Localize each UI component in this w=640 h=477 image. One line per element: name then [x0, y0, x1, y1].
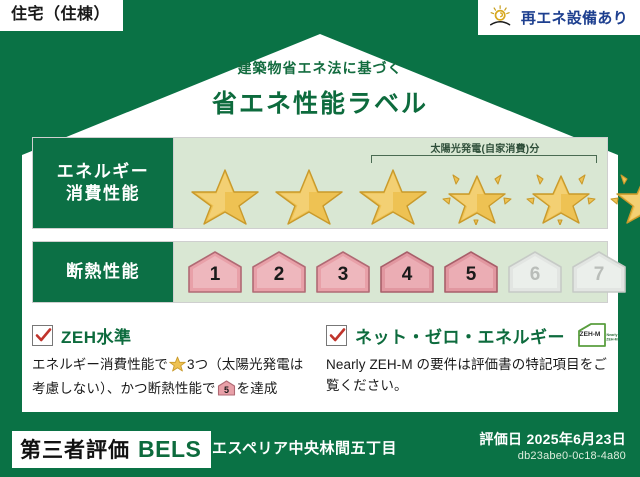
- energy-performance-label-key: エネルギー 消費性能: [32, 137, 174, 229]
- solar-star-icon: [608, 163, 640, 225]
- label-title-block: 建築物省エネ法に基づく 省エネ性能ラベル: [0, 58, 640, 120]
- insulation-grade-value: 6: [506, 265, 564, 284]
- claims-section: ZEH水準 エネルギー消費性能で3つ（太陽光発電は考慮しない）、かつ断熱性能で5…: [32, 322, 612, 404]
- insulation-performance-row: 断熱性能 1 2: [32, 241, 608, 303]
- bels-badge: 第三者評価 BELS: [12, 431, 211, 468]
- insulation-grade-badge: 4: [378, 249, 436, 295]
- insulation-grade-value: 7: [570, 265, 628, 284]
- star-icon: [188, 163, 262, 225]
- building-type-tag: 住宅（住棟）: [0, 0, 123, 31]
- energy-star-rating: [188, 164, 599, 224]
- insulation-grade-scale: 1 2 3: [186, 248, 599, 296]
- sun-icon: [488, 5, 514, 29]
- claim-nze-header: ネット・ゼロ・エネルギー ZEH-M Nearly ZEH-M: [326, 322, 612, 348]
- insulation-key-label: 断熱性能: [66, 261, 140, 283]
- bels-jp-label: 第三者評価: [20, 434, 130, 464]
- insulation-grade-value: 4: [378, 265, 436, 284]
- energy-performance-row: エネルギー 消費性能 太陽光発電(自家消費)分: [32, 137, 608, 229]
- energy-key-line1: エネルギー: [57, 161, 150, 183]
- bels-en-label: BELS: [138, 436, 201, 463]
- solar-star-icon: [440, 163, 514, 225]
- insulation-grade-inline-icon: 5: [217, 380, 236, 403]
- renewable-energy-badge: 再エネ設備あり: [478, 0, 640, 35]
- claim-nze-body: Nearly ZEH-M の要件は評価書の特記項目をご覧ください。: [326, 355, 612, 397]
- claim-nze-title: ネット・ゼロ・エネルギー: [355, 323, 565, 348]
- label-subtitle: 建築物省エネ法に基づく: [0, 58, 640, 78]
- insulation-performance-label-key: 断熱性能: [32, 241, 174, 303]
- solar-note-label: 太陽光発電(自家消費)分: [369, 140, 601, 155]
- insulation-grade-value: 3: [314, 265, 372, 284]
- insulation-grade-badge: 5: [442, 249, 500, 295]
- claim-zeh-body: エネルギー消費性能で3つ（太陽光発電は考慮しない）、かつ断熱性能で5を達成: [32, 355, 308, 403]
- evaluation-date: 評価日 2025年6月23日: [479, 429, 626, 449]
- svg-text:ZEH-M: ZEH-M: [606, 338, 617, 342]
- claim-zeh-body-part1: エネルギー消費性能で: [32, 357, 168, 372]
- claim-zeh-header: ZEH水準: [32, 322, 308, 348]
- insulation-grade-value: 1: [186, 265, 244, 284]
- insulation-grade-badge: 6: [506, 249, 564, 295]
- claim-zeh-body-part3: を達成: [237, 381, 278, 396]
- evaluation-id: db23abe0-0c18-4a80: [518, 450, 626, 462]
- checkbox-checked-icon: [32, 325, 53, 346]
- star-icon: [356, 163, 430, 225]
- claim-zeh-standard: ZEH水準 エネルギー消費性能で3つ（太陽光発電は考慮しない）、かつ断熱性能で5…: [32, 322, 308, 404]
- claim-zeh-title: ZEH水準: [61, 323, 132, 348]
- insulation-grade-badge: 2: [250, 249, 308, 295]
- label-main-title: 省エネ性能ラベル: [0, 84, 640, 120]
- svg-text:Nearly: Nearly: [607, 333, 618, 337]
- building-name: エスペリア中央林間五丁目: [212, 437, 397, 458]
- label-footer: 第三者評価 BELS エスペリア中央林間五丁目 評価日 2025年6月23日 d…: [0, 421, 640, 477]
- solar-bracket: [371, 155, 597, 163]
- insulation-grade-value: 5: [442, 265, 500, 284]
- energy-performance-value-panel: 太陽光発電(自家消費)分: [174, 137, 608, 229]
- solar-generation-annotation: 太陽光発電(自家消費)分: [369, 140, 601, 164]
- zeh-m-logo-icon: ZEH-M Nearly ZEH-M: [575, 322, 617, 348]
- star-icon: [169, 356, 186, 379]
- renewable-badge-label: 再エネ設備あり: [521, 7, 628, 28]
- insulation-grade-badge: 1: [186, 249, 244, 295]
- insulation-grade-value: 2: [250, 265, 308, 284]
- star-icon: [272, 163, 346, 225]
- solar-star-icon: [524, 163, 598, 225]
- svg-text:5: 5: [224, 385, 229, 395]
- energy-performance-label: 住宅（住棟） 再エネ設備あり 建築物省エネ法に基づく 省エネ性能ラベル: [0, 0, 640, 477]
- insulation-performance-value-panel: 1 2 3: [174, 241, 608, 303]
- insulation-grade-badge: 7: [570, 249, 628, 295]
- energy-key-line2: 消費性能: [66, 183, 140, 205]
- claim-net-zero-energy: ネット・ゼロ・エネルギー ZEH-M Nearly ZEH-M Nearly Z…: [326, 322, 612, 404]
- checkbox-checked-icon: [326, 325, 347, 346]
- svg-text:ZEH-M: ZEH-M: [580, 331, 601, 338]
- insulation-grade-badge: 3: [314, 249, 372, 295]
